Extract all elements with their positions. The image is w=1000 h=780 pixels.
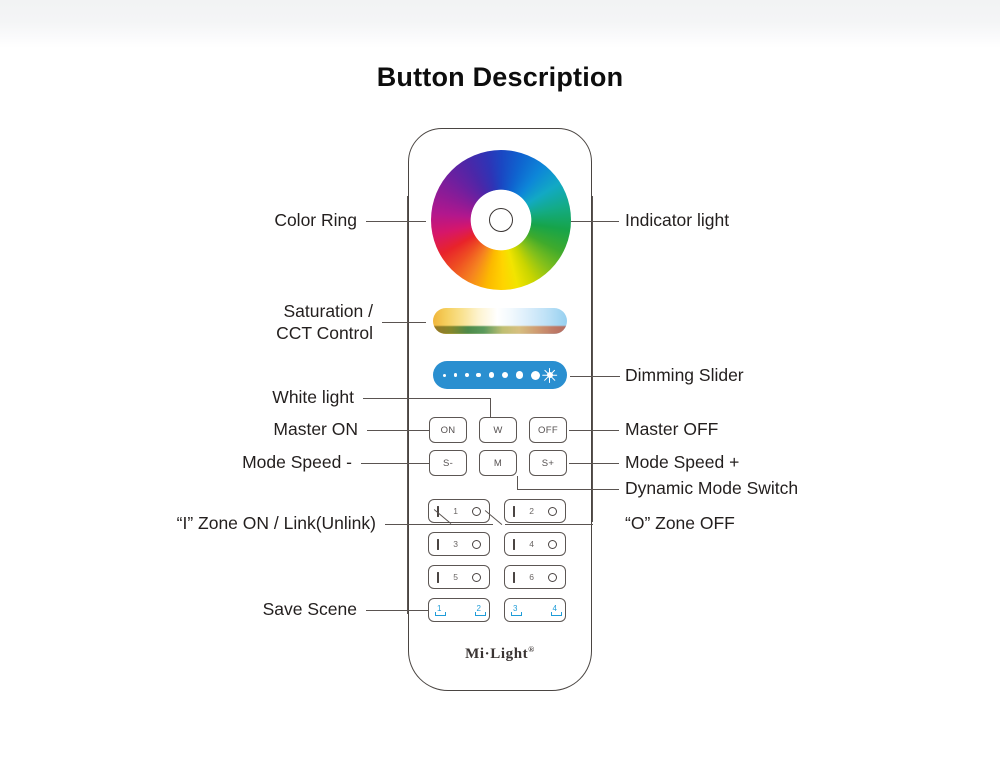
registered-mark: ® [528, 645, 535, 654]
dimming-dot-8[interactable] [531, 371, 540, 380]
callout-zone-on-link: “I” Zone ON / Link(Unlink) [177, 513, 376, 535]
leader-mode-speed-down [361, 463, 429, 464]
leader-saturation-cct [382, 322, 426, 323]
zone-off-icon[interactable] [548, 573, 557, 582]
zone-key-6[interactable]: 6 [504, 565, 566, 589]
zone-number: 1 [453, 506, 458, 516]
callout-line-2: CCT Control [276, 323, 373, 345]
callout-line: Color Ring [274, 210, 357, 230]
leader-dimming-slider [570, 376, 620, 377]
zone-number: 5 [453, 572, 458, 582]
zone-off-icon[interactable] [472, 540, 481, 549]
save-scene-2-icon[interactable]: 2 [477, 605, 481, 616]
zone-on-icon[interactable] [513, 572, 515, 583]
dimming-slider[interactable] [433, 361, 567, 389]
leader-master-on [367, 430, 429, 431]
scene-key-pair-right[interactable]: 3 4 [504, 598, 566, 622]
callout-line: Dimming Slider [625, 365, 744, 385]
saturation-cct-slider[interactable] [433, 308, 567, 334]
callout-line: Save Scene [263, 599, 357, 619]
brand-name: Mi·Light [465, 646, 528, 662]
callout-saturation-cct: Saturation / CCT Control [276, 301, 373, 345]
zone-key-4[interactable]: 4 [504, 532, 566, 556]
callout-indicator-light: Indicator light [625, 210, 729, 232]
zone-on-icon[interactable] [437, 539, 439, 550]
callout-line: “I” Zone ON / Link(Unlink) [177, 513, 376, 533]
callout-line: Mode Speed + [625, 452, 739, 472]
callout-dimming-slider: Dimming Slider [625, 365, 744, 387]
zone-off-icon[interactable] [548, 540, 557, 549]
master-off-button[interactable]: OFF [529, 417, 567, 443]
zone-key-3[interactable]: 3 [428, 532, 490, 556]
mode-speed-down-button[interactable]: S- [429, 450, 467, 476]
callout-line: Master OFF [625, 419, 718, 439]
callout-line: Master ON [273, 419, 358, 439]
mode-speed-up-button[interactable]: S+ [529, 450, 567, 476]
callout-mode-speed-up: Mode Speed + [625, 452, 739, 474]
left-guide-rail [407, 196, 408, 614]
callout-white-light: White light [272, 387, 354, 409]
leader-mode-speed-up [569, 463, 619, 464]
zone-on-icon[interactable] [437, 572, 439, 583]
white-light-button[interactable]: W [479, 417, 517, 443]
leader-save-scene [366, 610, 428, 611]
dimming-dot-6[interactable] [502, 372, 509, 379]
callout-master-off: Master OFF [625, 419, 718, 441]
callout-zone-off: “O” Zone OFF [625, 513, 735, 535]
sun-icon [542, 368, 557, 383]
leader-dynamic-mode-rise [517, 476, 518, 490]
callout-line: Dynamic Mode Switch [625, 478, 798, 498]
brand-logo: Mi·Light® [408, 645, 592, 663]
callout-master-on: Master ON [273, 419, 358, 441]
callout-save-scene: Save Scene [263, 599, 357, 621]
zone-key-5[interactable]: 5 [428, 565, 490, 589]
leader-indicator-light [571, 221, 619, 222]
leader-zone-off-run [505, 524, 593, 525]
callout-dynamic-mode-switch: Dynamic Mode Switch [625, 478, 798, 500]
page-title: Button Description [0, 62, 1000, 93]
leader-white-light-drop [490, 398, 491, 418]
page-canvas: Button Description ON W OFF S- M S+ 1 2 … [0, 0, 1000, 780]
dimming-dots [443, 361, 540, 389]
zone-off-icon[interactable] [548, 507, 557, 516]
dimming-dot-3[interactable] [465, 373, 469, 377]
callout-line: Mode Speed - [242, 452, 352, 472]
callout-mode-speed-down: Mode Speed - [242, 452, 352, 474]
zone-on-icon[interactable] [513, 506, 515, 517]
leader-zone-on-link [385, 524, 493, 525]
callout-line: White light [272, 387, 354, 407]
master-on-button[interactable]: ON [429, 417, 467, 443]
dimming-dot-5[interactable] [489, 372, 495, 378]
save-scene-3-icon[interactable]: 3 [513, 605, 517, 616]
dimming-dot-4[interactable] [476, 373, 481, 378]
zone-off-icon[interactable] [472, 507, 481, 516]
callout-line: “O” Zone OFF [625, 513, 735, 533]
leader-white-light [363, 398, 491, 399]
right-guide-rail [592, 196, 593, 522]
color-ring[interactable] [431, 150, 571, 290]
zone-number: 2 [529, 506, 534, 516]
zone-number: 4 [529, 539, 534, 549]
callout-color-ring: Color Ring [274, 210, 357, 232]
zone-number: 3 [453, 539, 458, 549]
dynamic-mode-switch-button[interactable]: M [479, 450, 517, 476]
zone-key-2[interactable]: 2 [504, 499, 566, 523]
zone-off-icon[interactable] [472, 573, 481, 582]
dimming-dot-1[interactable] [443, 374, 446, 377]
dimming-dot-7[interactable] [516, 371, 524, 379]
save-scene-1-icon[interactable]: 1 [437, 605, 441, 616]
dimming-dot-2[interactable] [454, 373, 458, 377]
leader-master-off [569, 430, 619, 431]
zone-on-icon[interactable] [513, 539, 515, 550]
zone-number: 6 [529, 572, 534, 582]
callout-line: Indicator light [625, 210, 729, 230]
save-scene-4-icon[interactable]: 4 [553, 605, 557, 616]
leader-color-ring [366, 221, 426, 222]
scene-key-pair-left[interactable]: 1 2 [428, 598, 490, 622]
leader-dynamic-mode [518, 489, 619, 490]
top-gradient-band [0, 0, 1000, 48]
callout-line: Saturation / [284, 301, 374, 321]
